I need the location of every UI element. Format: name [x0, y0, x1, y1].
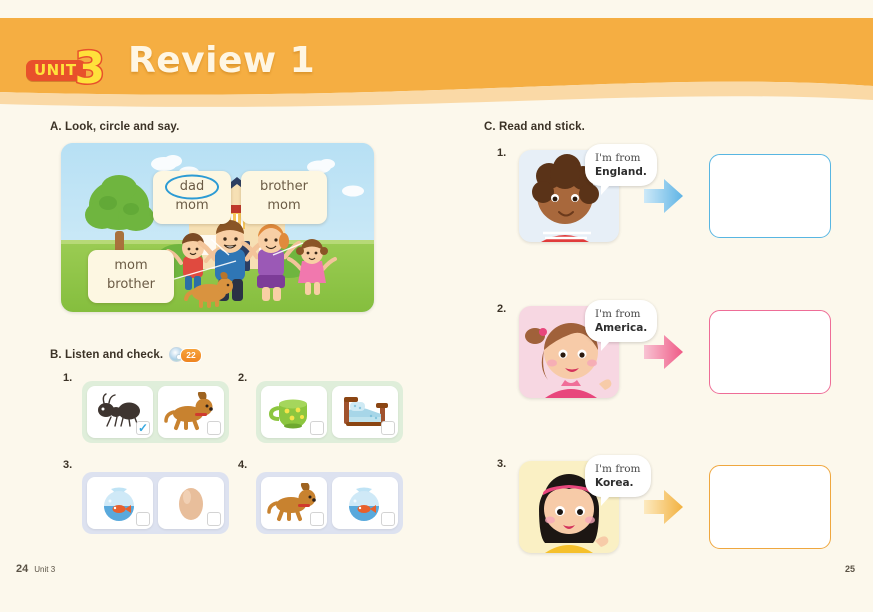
- section-b-heading-text: B. Listen and check.: [50, 349, 163, 361]
- read-stick-row-3: I'm from Korea.: [519, 461, 831, 553]
- checkbox-b2-cup[interactable]: [310, 421, 324, 435]
- picture-card-dog[interactable]: [158, 386, 224, 438]
- picture-card-fishbowl[interactable]: [87, 477, 153, 529]
- speech-place: Korea.: [595, 477, 634, 489]
- wordbox-brother-mom[interactable]: brother mom: [241, 171, 327, 224]
- section-c-heading-text: C. Read and stick.: [484, 121, 585, 133]
- picture-card-cup[interactable]: [261, 386, 327, 438]
- checkbox-b4-fishbowl[interactable]: [381, 512, 395, 526]
- item-number-b3: 3.: [63, 459, 72, 471]
- wordbox-word[interactable]: mom: [163, 197, 221, 216]
- wordbox-word-circled[interactable]: dad: [163, 178, 221, 197]
- section-b-heading: B. Listen and check. 22: [50, 347, 203, 362]
- checkbox-b4-dog[interactable]: [310, 512, 324, 526]
- picture-card-bed[interactable]: [332, 386, 398, 438]
- picture-card-fishbowl[interactable]: [332, 477, 398, 529]
- wordbox-word[interactable]: brother: [251, 178, 317, 197]
- wordbox-mom-brother[interactable]: mom brother: [88, 250, 174, 303]
- wordbox-word[interactable]: mom: [251, 197, 317, 216]
- speech-bubble-england: I'm from England.: [585, 144, 657, 186]
- checkbox-b3-egg[interactable]: [207, 512, 221, 526]
- speech-place: America.: [595, 322, 647, 334]
- family-scene-illustration: dad mom brother mom mom brother: [61, 143, 374, 312]
- audio-track-number: 22: [180, 348, 202, 363]
- section-a-heading-text: A. Look, circle and say.: [50, 121, 179, 133]
- unit-badge: UNIT 3: [26, 48, 105, 82]
- item-number-c3: 3.: [497, 458, 506, 470]
- wordbox-word[interactable]: mom: [98, 257, 164, 276]
- speech-place: England.: [595, 166, 647, 178]
- item-number-c1: 1.: [497, 147, 506, 159]
- speech-prefix: I'm from: [595, 308, 641, 320]
- speech-bubble-america: I'm from America.: [585, 300, 657, 342]
- wordbox-word[interactable]: brother: [98, 276, 164, 295]
- sticker-answer-box-3[interactable]: [709, 465, 831, 549]
- picture-card-dog[interactable]: [261, 477, 327, 529]
- wordbox-dad-mom[interactable]: dad mom: [153, 171, 231, 224]
- listen-group-3: [82, 472, 229, 534]
- item-number-b4: 4.: [238, 459, 247, 471]
- workbook-page: UNIT 3 Review 1 A. Look, circle and say.: [0, 0, 873, 612]
- speech-prefix: I'm from: [595, 463, 641, 475]
- sticker-answer-box-1[interactable]: [709, 154, 831, 238]
- cd-icon: 22: [169, 347, 203, 362]
- item-number-b1: 1.: [63, 372, 72, 384]
- listen-group-4: [256, 472, 403, 534]
- listen-group-1: ✓: [82, 381, 229, 443]
- speech-bubble-korea: I'm from Korea.: [585, 455, 651, 497]
- sticker-answer-box-2[interactable]: [709, 310, 831, 394]
- footer-unit-label: Unit 3: [34, 565, 55, 574]
- picture-card-egg[interactable]: [158, 477, 224, 529]
- listen-group-2: [256, 381, 403, 443]
- read-stick-row-1: I'm from England.: [519, 150, 831, 242]
- arrow-right-icon: [641, 485, 687, 529]
- page-number-left: 24: [16, 563, 28, 575]
- picture-card-ant[interactable]: ✓: [87, 386, 153, 438]
- page-number-right: 25: [845, 564, 855, 574]
- checkbox-b3-fishbowl[interactable]: [136, 512, 150, 526]
- page-title: Review 1: [128, 40, 315, 81]
- section-a-heading: A. Look, circle and say.: [50, 121, 179, 133]
- footer-left: 24 Unit 3: [16, 563, 55, 575]
- checkbox-b1-ant[interactable]: ✓: [136, 421, 150, 435]
- checkbox-b2-bed[interactable]: [381, 421, 395, 435]
- item-number-b2: 2.: [238, 372, 247, 384]
- section-c-heading: C. Read and stick.: [484, 121, 585, 133]
- checkbox-b1-dog[interactable]: [207, 421, 221, 435]
- unit-number: 3: [75, 52, 106, 86]
- item-number-c2: 2.: [497, 303, 506, 315]
- speech-prefix: I'm from: [595, 152, 641, 164]
- page-header-banner: UNIT 3 Review 1: [0, 0, 873, 110]
- read-stick-row-2: I'm from America.: [519, 306, 831, 398]
